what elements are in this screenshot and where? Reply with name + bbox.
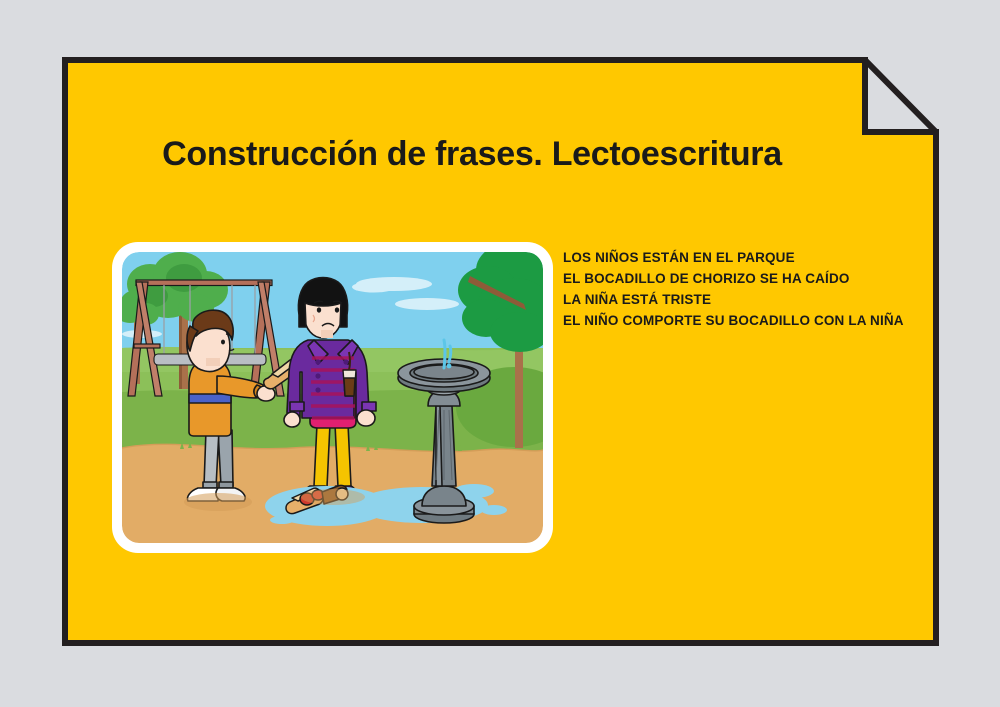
sentence-line: LA NIÑA ESTÁ TRISTE xyxy=(563,289,933,310)
illustration-frame xyxy=(112,242,553,553)
park-scene-illustration xyxy=(122,252,543,543)
sentence-line: EL BOCADILLO DE CHORIZO SE HA CAÍDO xyxy=(563,268,933,289)
screenshot-root: Construcción de frases. Lectoescritura xyxy=(0,0,1000,707)
card-content: Construcción de frases. Lectoescritura xyxy=(62,57,939,646)
sentence-line: LOS NIÑOS ESTÁN EN EL PARQUE xyxy=(563,247,933,268)
page-title: Construcción de frases. Lectoescritura xyxy=(62,135,882,174)
sentence-line: EL NIÑO COMPORTE SU BOCADILLO CON LA NIÑ… xyxy=(563,310,933,331)
note-card: Construcción de frases. Lectoescritura xyxy=(62,57,939,646)
sentence-list: LOS NIÑOS ESTÁN EN EL PARQUE EL BOCADILL… xyxy=(563,247,933,331)
